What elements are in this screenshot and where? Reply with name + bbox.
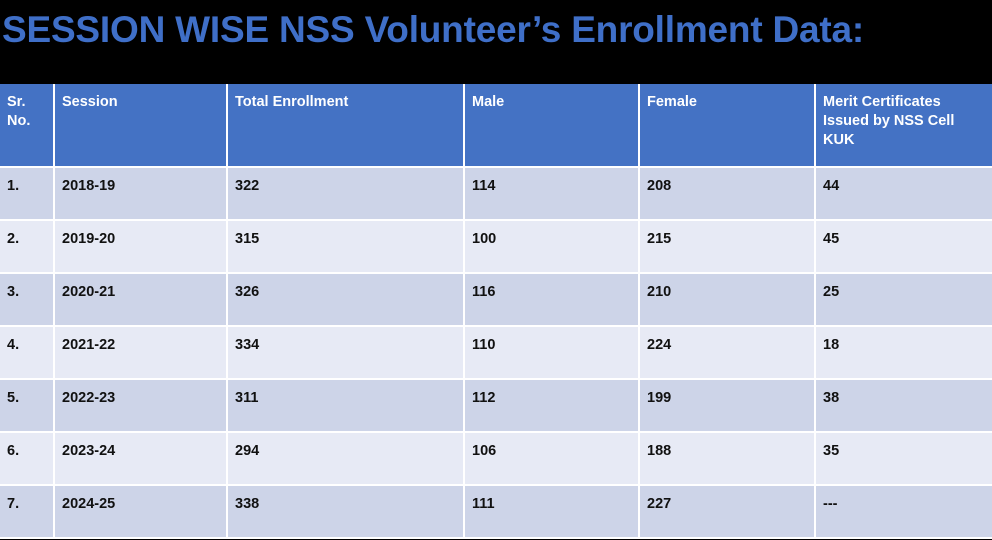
cell-female: 188 — [640, 433, 816, 486]
cell-merit: 25 — [816, 274, 992, 327]
column-header-sr-no-line2: No. — [7, 113, 30, 129]
title-bar: SESSION WISE NSS Volunteer’s Enrollment … — [0, 0, 992, 84]
cell-session: 2023-24 — [55, 433, 228, 486]
table-row: 1.2018-1932211420844 — [0, 168, 992, 221]
cell-sr-no: 6. — [0, 433, 55, 486]
cell-female: 215 — [640, 221, 816, 274]
cell-merit: 44 — [816, 168, 992, 221]
slide-canvas: SESSION WISE NSS Volunteer’s Enrollment … — [0, 0, 992, 540]
enrollment-table: Sr. No. Session Total Enrollment Male Fe… — [0, 84, 992, 539]
table-body: 1.2018-19322114208442.2019-2031510021545… — [0, 168, 992, 539]
cell-male: 116 — [465, 274, 640, 327]
column-header-session: Session — [55, 84, 228, 168]
cell-male: 106 — [465, 433, 640, 486]
table-row: 5.2022-2331111219938 — [0, 380, 992, 433]
table-row: 4.2021-2233411022418 — [0, 327, 992, 380]
cell-merit: 35 — [816, 433, 992, 486]
cell-total: 311 — [228, 380, 465, 433]
cell-total: 338 — [228, 486, 465, 539]
cell-male: 100 — [465, 221, 640, 274]
cell-total: 315 — [228, 221, 465, 274]
cell-female: 210 — [640, 274, 816, 327]
cell-total: 294 — [228, 433, 465, 486]
cell-female: 224 — [640, 327, 816, 380]
column-header-sr-no: Sr. No. — [0, 84, 55, 168]
table-header-row: Sr. No. Session Total Enrollment Male Fe… — [0, 84, 992, 168]
column-header-merit-line3: KUK — [823, 132, 854, 148]
cell-total: 322 — [228, 168, 465, 221]
table-header: Sr. No. Session Total Enrollment Male Fe… — [0, 84, 992, 168]
cell-session: 2020-21 — [55, 274, 228, 327]
cell-male: 110 — [465, 327, 640, 380]
cell-session: 2019-20 — [55, 221, 228, 274]
column-header-merit-certificates: Merit Certificates Issued by NSS Cell KU… — [816, 84, 992, 168]
cell-sr-no: 5. — [0, 380, 55, 433]
column-header-female: Female — [640, 84, 816, 168]
cell-session: 2018-19 — [55, 168, 228, 221]
cell-sr-no: 7. — [0, 486, 55, 539]
cell-female: 199 — [640, 380, 816, 433]
cell-merit: 38 — [816, 380, 992, 433]
column-header-merit-line2: Issued by NSS Cell — [823, 113, 954, 129]
cell-female: 227 — [640, 486, 816, 539]
cell-male: 114 — [465, 168, 640, 221]
cell-merit: --- — [816, 486, 992, 539]
cell-male: 111 — [465, 486, 640, 539]
cell-total: 334 — [228, 327, 465, 380]
cell-session: 2022-23 — [55, 380, 228, 433]
cell-sr-no: 1. — [0, 168, 55, 221]
column-header-sr-no-line1: Sr. — [7, 94, 26, 110]
cell-merit: 45 — [816, 221, 992, 274]
page-title: SESSION WISE NSS Volunteer’s Enrollment … — [2, 6, 864, 54]
column-header-total-enrollment: Total Enrollment — [228, 84, 465, 168]
cell-session: 2021-22 — [55, 327, 228, 380]
cell-sr-no: 4. — [0, 327, 55, 380]
table-row: 3.2020-2132611621025 — [0, 274, 992, 327]
cell-sr-no: 2. — [0, 221, 55, 274]
cell-sr-no: 3. — [0, 274, 55, 327]
cell-male: 112 — [465, 380, 640, 433]
column-header-merit-line1: Merit Certificates — [823, 94, 941, 110]
cell-female: 208 — [640, 168, 816, 221]
table-row: 7.2024-25338111227--- — [0, 486, 992, 539]
table-row: 2.2019-2031510021545 — [0, 221, 992, 274]
cell-session: 2024-25 — [55, 486, 228, 539]
cell-merit: 18 — [816, 327, 992, 380]
table-row: 6.2023-2429410618835 — [0, 433, 992, 486]
column-header-male: Male — [465, 84, 640, 168]
cell-total: 326 — [228, 274, 465, 327]
